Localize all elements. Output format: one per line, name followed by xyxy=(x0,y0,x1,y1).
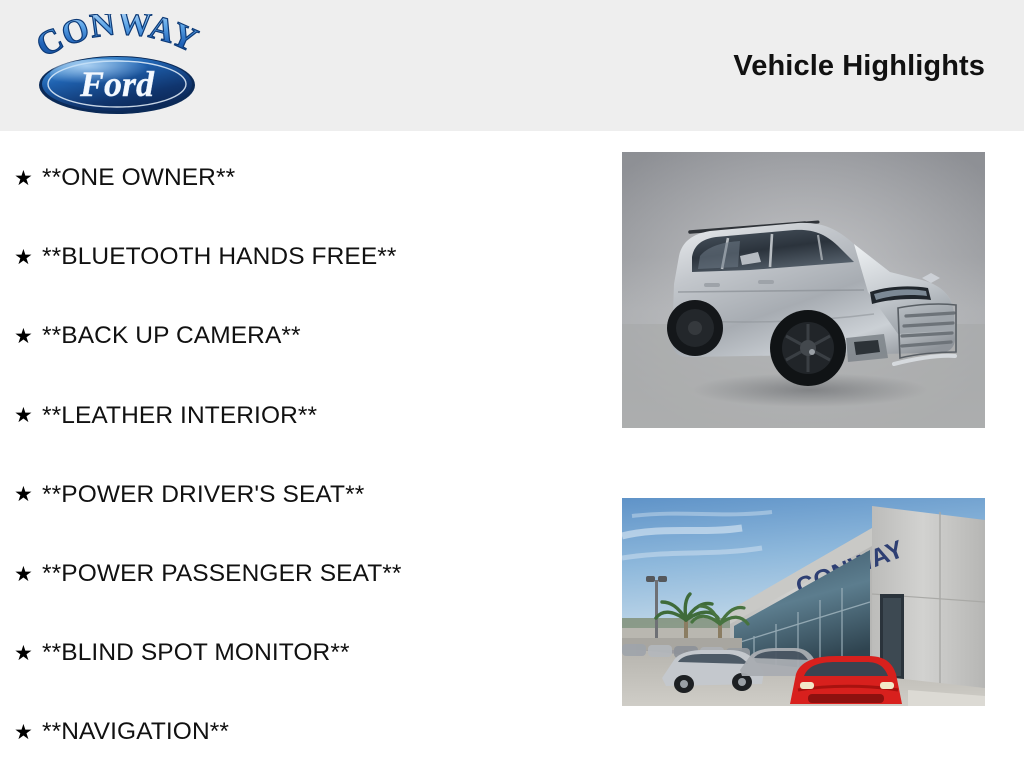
dealer-logo[interactable]: CONWAY Ford xyxy=(22,14,212,118)
conway-ford-logo-icon: CONWAY Ford xyxy=(22,14,212,118)
star-icon: ★ xyxy=(14,405,42,426)
highlight-label: **LEATHER INTERIOR** xyxy=(42,402,317,430)
star-icon: ★ xyxy=(14,168,42,189)
page-title: Vehicle Highlights xyxy=(733,50,985,83)
vehicle-photo-icon xyxy=(622,152,985,428)
list-item: ★**POWER PASSENGER SEAT** xyxy=(14,556,402,592)
header-band: CONWAY Ford Vehicle Highlights xyxy=(0,0,1024,131)
vehicle-photo[interactable] xyxy=(622,152,985,428)
star-icon: ★ xyxy=(14,484,42,505)
list-item: ★**BLIND SPOT MONITOR** xyxy=(14,635,350,671)
list-item: ★**BACK UP CAMERA** xyxy=(14,318,301,354)
highlight-label: **NAVIGATION** xyxy=(42,718,229,746)
dealership-photo-icon: CONWAY xyxy=(622,498,985,706)
highlight-label: **BACK UP CAMERA** xyxy=(42,322,301,350)
star-icon: ★ xyxy=(14,643,42,664)
star-icon: ★ xyxy=(14,722,42,743)
list-item: ★**BLUETOOTH HANDS FREE** xyxy=(14,239,397,275)
dealership-photo[interactable]: CONWAY xyxy=(622,498,985,706)
highlight-label: **BLIND SPOT MONITOR** xyxy=(42,639,350,667)
list-item: ★**POWER DRIVER'S SEAT** xyxy=(14,477,364,513)
list-item: ★**LEATHER INTERIOR** xyxy=(14,398,317,434)
vehicle-highlights-page: CONWAY Ford Vehicle Highlights ★**ONE OW… xyxy=(0,0,1024,768)
list-item: ★**ONE OWNER** xyxy=(14,160,235,196)
highlight-label: **ONE OWNER** xyxy=(42,164,235,192)
vehicle-highlights-list: ★**ONE OWNER**★**BLUETOOTH HANDS FREE**★… xyxy=(0,131,600,768)
svg-text:Ford: Ford xyxy=(79,64,155,104)
star-icon: ★ xyxy=(14,564,42,585)
highlight-label: **POWER PASSENGER SEAT** xyxy=(42,560,402,588)
list-item: ★**NAVIGATION** xyxy=(14,714,229,750)
star-icon: ★ xyxy=(14,247,42,268)
highlight-label: **BLUETOOTH HANDS FREE** xyxy=(42,243,397,271)
highlight-label: **POWER DRIVER'S SEAT** xyxy=(42,481,364,509)
star-icon: ★ xyxy=(14,326,42,347)
